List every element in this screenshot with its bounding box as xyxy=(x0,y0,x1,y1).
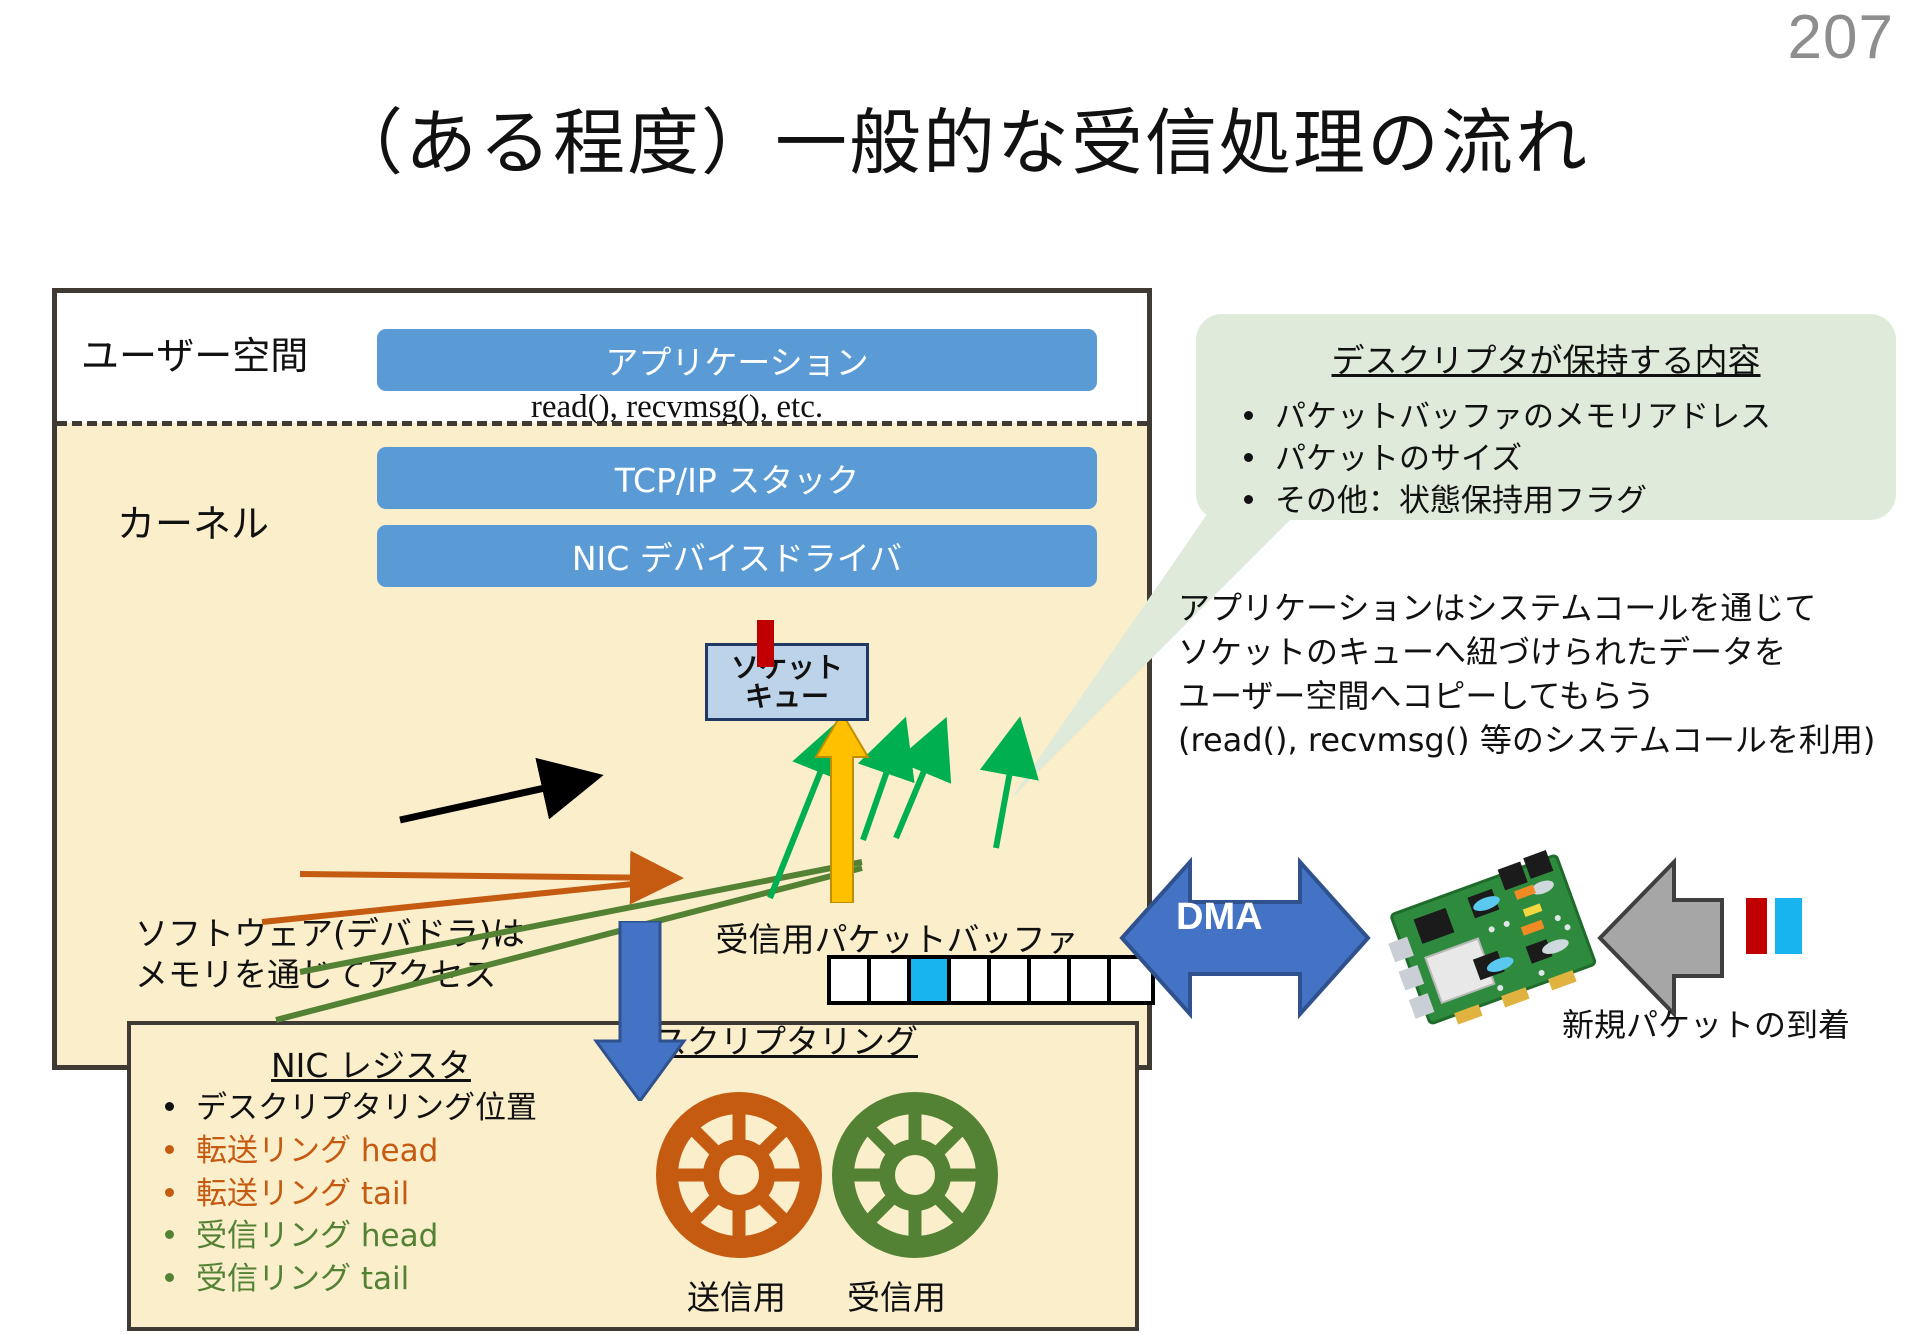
new-packet-arrival-label: 新規パケットの到着 xyxy=(1562,1000,1850,1046)
callout-item-label: パケットのサイズ xyxy=(1275,438,1522,480)
new-packet-arrow xyxy=(1600,862,1722,1014)
tx-ring-wheel xyxy=(667,1103,811,1247)
packet-buffer-caption: 受信用パケットバッファ xyxy=(697,913,1097,961)
bullet-dot-icon xyxy=(1244,453,1253,462)
packet-buffer-cell-3 xyxy=(911,959,951,1001)
socket-queue-line2: キュー xyxy=(745,682,829,711)
callout-item-list: パケットバッファのメモリアドレスパケットのサイズその他：状態保持用フラグ xyxy=(1244,396,1771,522)
host-diagram-box: ユーザー空間 カーネル アプリケーション read(), recvmsg(), … xyxy=(52,288,1152,1070)
syscall-description-line1: アプリケーションはシステムコールを通じて xyxy=(1178,586,1875,630)
driver-to-register-down-arrow xyxy=(592,921,688,1101)
slide-title: （ある程度）一般的な受信処理の流れ xyxy=(0,84,1920,189)
kernel-label: カーネル xyxy=(117,493,269,548)
syscall-description-line4: (read(), recvmsg() 等のシステムコールを利用) xyxy=(1178,718,1875,762)
syscall-description-note: アプリケーションはシステムコールを通じて ソケットのキューへ紐づけられたデータを… xyxy=(1178,586,1875,763)
syscall-description-line3: ユーザー空間へコピーしてもらう xyxy=(1178,674,1875,718)
socket-queue-marker xyxy=(757,620,774,667)
software-access-note-line2: メモリを通じてアクセス xyxy=(135,954,525,995)
rx-ring-label: 受信用 xyxy=(847,1271,946,1319)
software-access-note: ソフトウェア(デバドラ)は メモリを通じてアクセス xyxy=(135,913,525,996)
packet-buffer-cell-7 xyxy=(1071,959,1111,1001)
arriving-packet-red xyxy=(1746,898,1767,954)
packet-buffer-cell-4 xyxy=(951,959,991,1001)
software-access-note-line1: ソフトウェア(デバドラ)は xyxy=(135,913,525,954)
descriptor-contents-callout: デスクリプタが保持する内容 パケットバッファのメモリアドレスパケットのサイズその… xyxy=(1196,314,1896,520)
tcpip-stack-bar: TCP/IP スタック xyxy=(377,447,1097,509)
syscall-description-line2: ソケットのキューへ紐づけられたデータを xyxy=(1178,630,1875,674)
bullet-dot-icon xyxy=(1244,411,1253,420)
packet-buffer xyxy=(827,955,1155,1005)
callout-item-label: その他：状態保持用フラグ xyxy=(1275,480,1647,522)
callout-item-label: パケットバッファのメモリアドレス xyxy=(1275,396,1771,438)
callout-item-2: パケットのサイズ xyxy=(1244,438,1771,480)
nic-driver-bar: NIC デバイスドライバ xyxy=(377,525,1097,587)
arriving-packet-cyan xyxy=(1775,898,1802,954)
tx-ring-label: 送信用 xyxy=(687,1271,786,1319)
packet-buffer-cell-6 xyxy=(1031,959,1071,1001)
dma-label: DMA xyxy=(1176,896,1263,939)
callout-item-3: その他：状態保持用フラグ xyxy=(1244,480,1771,522)
slide-canvas: 207 （ある程度）一般的な受信処理の流れ ユーザー空間 カーネル アプリケーシ… xyxy=(0,0,1920,1080)
callout-item-1: パケットバッファのメモリアドレス xyxy=(1244,396,1771,438)
socket-queue-box: ソケット キュー xyxy=(705,643,869,721)
syscall-note: read(), recvmsg(), etc. xyxy=(357,389,997,426)
bullet-dot-icon xyxy=(1244,495,1253,504)
packet-buffer-cell-1 xyxy=(831,959,871,1001)
page-number: 207 xyxy=(1788,2,1894,73)
packet-buffer-cell-8 xyxy=(1111,959,1151,1001)
user-space-label: ユーザー空間 xyxy=(81,325,308,380)
application-bar: アプリケーション xyxy=(377,329,1097,391)
packet-buffer-cell-5 xyxy=(991,959,1031,1001)
rx-ring-wheel xyxy=(843,1103,987,1247)
socket-queue-up-arrow xyxy=(812,713,872,903)
socket-queue-line1: ソケット xyxy=(731,653,843,682)
callout-title: デスクリプタが保持する内容 xyxy=(1196,334,1896,382)
packet-buffer-cell-2 xyxy=(871,959,911,1001)
